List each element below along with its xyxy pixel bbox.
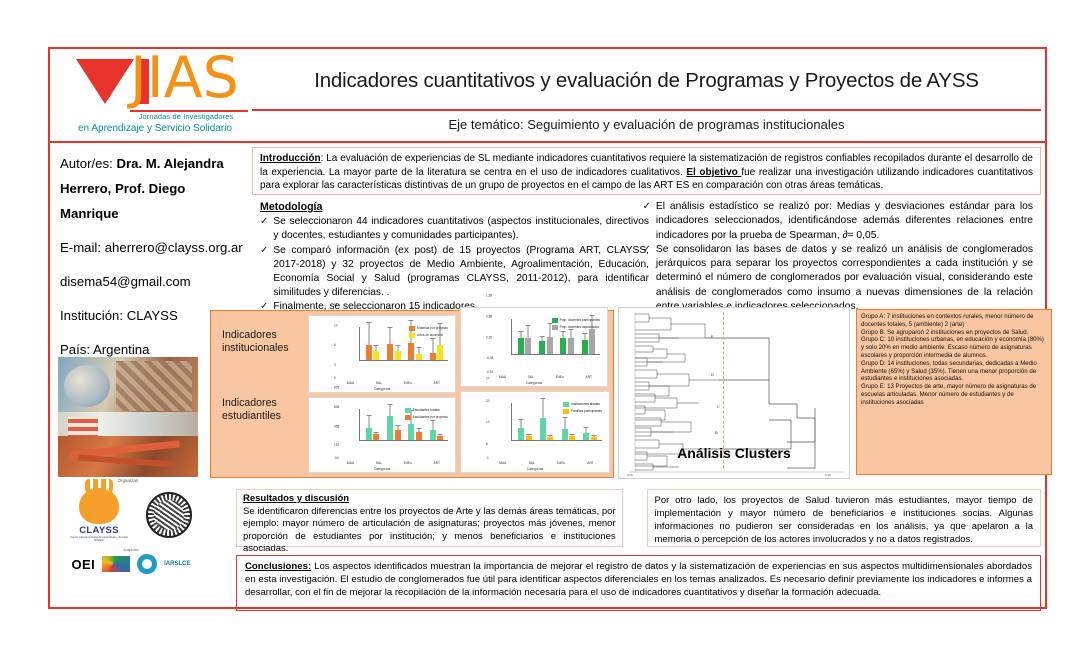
legend-item: Prop. docentes capacitados — [552, 325, 600, 330]
logo-v-shape — [76, 59, 134, 104]
chart-indicadores-comunidad[interactable]: -16132027Instituciones aliadasFamilias p… — [460, 391, 610, 473]
error-bar — [368, 322, 369, 345]
error-bar — [397, 425, 398, 430]
error-bar — [550, 435, 551, 437]
label-indicadores-estudiantiles: Indicadores estudiantiles — [222, 397, 302, 424]
error-bar — [528, 434, 529, 436]
university-seal-icon — [146, 492, 192, 538]
x-axis-tick: ART — [587, 461, 594, 465]
x-axis-tick: ART — [434, 381, 441, 385]
x-axis-labels: MAASALEdEcART — [336, 461, 451, 465]
header-divider — [50, 141, 1045, 143]
chart-bar — [525, 338, 531, 354]
x-axis-tick: ART — [586, 375, 593, 379]
svg-text:B: B — [715, 430, 718, 435]
chart-plot-area: -16132027Instituciones aliadasFamilias p… — [487, 398, 605, 456]
legend-item: Estudiantes por proyecto — [405, 415, 448, 420]
svg-text:D: D — [711, 372, 714, 377]
error-bar — [440, 434, 441, 436]
bar-group — [387, 328, 401, 360]
sponsor-section-label-organizan: Organizan — [58, 478, 198, 483]
introduccion-box: Introducción: La evaluación de experienc… — [252, 147, 1041, 195]
chart-bar — [589, 329, 595, 354]
label-indicadores-institucionales: Indicadores institucionales — [222, 329, 296, 356]
x-axis-tick: EdEc — [404, 461, 412, 465]
legend-item: Prop. docentes participantes — [552, 318, 600, 323]
svg-text:E: E — [711, 334, 714, 339]
legend-label: Prop. docentes capacitados — [560, 326, 599, 330]
chart-bar — [518, 428, 524, 440]
sponsor-logos: CLAYSS Centro Latinoamericano de Aprendi… — [56, 486, 206, 574]
y-axis-tick: 12 — [334, 303, 338, 342]
x-axis-title: Categorías — [309, 387, 455, 391]
error-bar — [542, 398, 543, 418]
bar-group — [518, 404, 532, 440]
chart-bar — [430, 430, 436, 440]
legend-swatch — [552, 325, 558, 330]
metodologia-bullet: ✓Se seleccionaron 44 indicadores cuantit… — [260, 215, 649, 243]
error-bar — [564, 417, 565, 429]
chart-plot-area: -0,51-0,080,390,881,39Prop. docentes par… — [487, 314, 603, 370]
grupo-line: Grupo C: 10 instituciones urbanas, en ed… — [861, 336, 1047, 359]
x-axis-tick: MAA — [347, 381, 354, 385]
chart-plot-area: -54187368608829Estudiantes totalesEstudi… — [335, 404, 451, 456]
chart-legend: Materias por proyectoAños de docencia — [409, 326, 448, 340]
logo-acronym: JIAS — [130, 48, 239, 108]
legend-swatch — [405, 415, 411, 420]
poster-subtitle-container: Eje temático: Seguimiento y evaluación d… — [252, 111, 1041, 137]
legend-swatch — [405, 408, 411, 413]
x-axis-labels: MAASALEdEcART — [488, 461, 605, 465]
uniservitate-icon — [137, 554, 157, 574]
legend-label: Años de docencia — [417, 334, 442, 338]
error-bar — [593, 435, 594, 437]
chart-bar — [526, 436, 532, 440]
x-axis — [359, 360, 448, 361]
error-bar — [528, 325, 529, 338]
x-axis-title: Categorías — [461, 381, 607, 385]
error-bar — [418, 347, 419, 354]
error-bar — [584, 333, 585, 340]
chart-indicadores-institucionales[interactable]: 0361012Materias por proyectoAños de doce… — [308, 315, 456, 393]
metodologia-bullet: ✓Se comparó información (ex post) de 15 … — [260, 244, 649, 301]
y-axis — [511, 319, 512, 355]
conclusiones-heading: Conclusiones: — [245, 561, 311, 572]
metodologia-bullet-text: Se seleccionaron 44 indicadores cuantita… — [273, 215, 649, 243]
x-axis-tick: SAL — [529, 461, 535, 465]
error-bar — [542, 336, 543, 341]
email-line-1: E-mail: aherrero@clayss.org.ar — [60, 235, 246, 260]
x-axis-labels: MAASALEdEcART — [488, 375, 603, 379]
email-value-1[interactable]: aherrero@clayss.org.ar — [105, 240, 243, 255]
chart-legend: Estudiantes totalesEstudiantes por proye… — [405, 408, 448, 422]
chart-bar — [560, 338, 566, 354]
introduccion-heading: Introducción — [260, 153, 321, 164]
x-axis-labels: MAASALEdEcART — [336, 381, 451, 385]
estadistica-box: ✓El análisis estadístico se realizó por:… — [640, 197, 1041, 306]
author-label: Autor/es: — [60, 156, 116, 171]
metodologia-heading: Metodología — [260, 200, 649, 214]
email-line-2: disema54@gmail.com — [60, 269, 246, 294]
bar-group — [366, 328, 380, 360]
logo-subtitle-1: Jornadas de Investigadores — [122, 112, 250, 121]
x-axis-title: Categorías — [309, 467, 455, 471]
chart-plot-area: 0361012Materias por proyectoAños de doce… — [335, 322, 451, 376]
legend-item: Estudiantes totales — [405, 408, 448, 413]
chart-bar — [540, 418, 546, 440]
y-axis — [359, 327, 360, 361]
email-label: E-mail: — [60, 240, 105, 255]
sponsor-section-label-auspician: Auspician — [56, 548, 206, 552]
x-axis — [511, 354, 600, 355]
legend-swatch — [563, 409, 569, 414]
metodologia-bullet-text: Se comparó información (ex post) de 15 p… — [273, 244, 649, 301]
error-bar — [572, 434, 573, 436]
chart-bar — [437, 436, 443, 440]
chart-bar — [547, 437, 553, 440]
estadistica-bullet-text: Se consolidaron las bases de datos y se … — [656, 243, 1033, 314]
x-axis-tick: EdEc — [556, 375, 564, 379]
iberoamerica-flag-icon — [102, 556, 130, 572]
y-axis-tick: 27 — [486, 377, 490, 420]
legend-label: Materias por proyecto — [417, 327, 448, 331]
chart-bar — [366, 428, 372, 440]
conclusiones-box: Conclusiones: Los aspectos identificados… — [236, 555, 1041, 611]
error-bar — [376, 432, 377, 435]
conclusiones-text: Los aspectos identificados muestran la i… — [245, 561, 1032, 598]
chart-bar — [395, 351, 401, 360]
x-axis — [359, 440, 448, 441]
legend-item: Años de docencia — [409, 333, 448, 338]
chart-bar — [582, 340, 588, 354]
resultados-heading: Resultados y discusión — [243, 493, 616, 506]
estadistica-bullet-text: El análisis estadístico se realizó por: … — [656, 200, 1033, 243]
chart-bar — [583, 433, 589, 440]
x-axis-tick: SAL — [528, 375, 534, 379]
chart-bar — [591, 437, 597, 440]
chart-bar — [416, 354, 422, 360]
legend-item: Materias por proyecto — [409, 326, 448, 331]
project-photo — [58, 357, 198, 477]
error-bar — [520, 331, 521, 339]
main-content: Introducción: La evaluación de experienc… — [252, 145, 1041, 603]
chart-bar — [395, 430, 401, 440]
email-value-2[interactable]: disema54@gmail.com — [60, 274, 191, 289]
check-icon: ✓ — [260, 215, 268, 229]
hand-icon — [79, 488, 119, 524]
logo-subtitle-2: en Aprendizaje y Servicio Solidario — [60, 123, 250, 134]
chart-legend: Instituciones aliadasFamilias participan… — [563, 402, 602, 416]
error-bar — [397, 345, 398, 351]
resultados-text-left: Se identificaron diferencias entre los p… — [243, 506, 616, 556]
chart-bar — [373, 434, 379, 440]
poster-title: Indicadores cuantitativos y evaluación d… — [314, 69, 979, 93]
x-axis-tick: EdEc — [557, 461, 565, 465]
check-icon: ✓ — [260, 244, 268, 258]
chart-bar — [387, 344, 393, 360]
chart-bar — [569, 436, 575, 440]
bar-group — [539, 320, 553, 354]
error-bar — [549, 323, 550, 337]
error-bar — [368, 415, 369, 427]
grupo-line: Grupo D: 14 instituciones, todas secunda… — [861, 360, 1047, 383]
x-axis-tick: SAL — [376, 461, 382, 465]
resultados-box-right: Por otro lado, los proyectos de Salud tu… — [647, 489, 1042, 547]
clayss-wordmark: CLAYSS — [70, 525, 128, 536]
grupo-line: Grupo B: Se agruparon 2 instituciones en… — [861, 329, 1047, 337]
x-axis-tick: MAA — [499, 375, 506, 379]
chart-bar — [408, 343, 414, 360]
svg-text:0,39: 0,39 — [825, 473, 831, 477]
legend-label: Familias participantes — [571, 410, 602, 414]
legend-item: Familias participantes — [563, 409, 602, 414]
poster-header: JIAS Jornadas de Investigadores en Apren… — [50, 49, 1045, 141]
legend-swatch — [409, 326, 415, 331]
svg-text:0,00: 0,00 — [627, 473, 633, 477]
error-bar — [521, 419, 522, 429]
chart-bar — [562, 429, 568, 440]
y-axis-tick: 829 — [334, 386, 339, 423]
grupos-summary-box: Grupo A: 7 instituciones en contextos ru… — [856, 309, 1052, 475]
chart-bar — [547, 337, 553, 354]
bar-group — [518, 320, 532, 354]
resultados-box-left: Resultados y discusión Se identificaron … — [236, 489, 623, 547]
dendrogram-caption: Análisis Clusters — [618, 445, 850, 461]
error-bar — [376, 345, 377, 352]
chart-bar — [366, 345, 372, 360]
legend-label: Estudiantes totales — [413, 409, 440, 413]
legend-label: Estudiantes por proyecto — [413, 416, 448, 420]
x-axis-tick: MAA — [347, 461, 354, 465]
legend-item: Instituciones aliadas — [563, 402, 602, 407]
metodologia-box: Metodología ✓Se seleccionaron 44 indicad… — [252, 197, 655, 306]
x-axis-tick: MAA — [499, 461, 506, 465]
chart-bar — [416, 432, 422, 440]
grupo-line: Grupo E: 13 Proyectos de arte, mayor núm… — [861, 383, 1047, 406]
error-bar — [432, 338, 433, 353]
bar-group — [366, 410, 380, 440]
iarslce-logo: IARSLCE — [164, 561, 190, 567]
legend-swatch — [409, 333, 415, 338]
chart-legend: Prop. docentes participantesProp. docent… — [552, 318, 600, 332]
x-axis — [511, 440, 602, 441]
poster-canvas: JIAS Jornadas de Investigadores en Apren… — [48, 47, 1047, 609]
bar-group — [387, 410, 401, 440]
error-bar — [418, 428, 419, 432]
x-axis-title: Categorías — [461, 467, 609, 471]
svg-text:C: C — [717, 404, 720, 409]
chart-bar — [408, 424, 414, 440]
y-axis-tick: 1,39 — [486, 294, 492, 335]
x-axis-tick: EdEc — [404, 381, 412, 385]
y-axis — [511, 403, 512, 441]
legend-swatch — [563, 402, 569, 407]
error-bar — [390, 404, 391, 415]
author-line: Autor/es: Dra. M. Alejandra Herrero, Pro… — [60, 151, 246, 226]
y-axis — [359, 409, 360, 441]
error-bar — [390, 327, 391, 344]
chart-bar — [539, 341, 545, 354]
chart-bar — [518, 338, 524, 354]
check-icon: ✓ — [642, 243, 650, 257]
chart-bar — [387, 416, 393, 440]
chart-bar — [568, 338, 574, 354]
chart-bar — [430, 353, 436, 360]
poster-subtitle: Eje temático: Seguimiento y evaluación d… — [449, 117, 845, 132]
chart-indicadores-estudiantiles[interactable]: -54187368608829Estudiantes totalesEstudi… — [308, 397, 456, 473]
check-icon: ✓ — [642, 200, 650, 214]
chart-indicadores-docentes[interactable]: -0,51-0,080,390,881,39Prop. docentes par… — [460, 307, 608, 387]
jias-logo: JIAS Jornadas de Investigadores en Apren… — [58, 53, 250, 141]
resultados-text-right: Por otro lado, los proyectos de Salud tu… — [655, 495, 1034, 547]
x-axis-tick: SAL — [376, 381, 382, 385]
poster-title-container: Indicadores cuantitativos y evaluación d… — [252, 53, 1041, 111]
legend-label: Instituciones aliadas — [571, 403, 600, 407]
error-bar — [586, 427, 587, 433]
chart-bar — [437, 345, 443, 360]
grupo-line: Grupo A: 7 instituciones en contextos ru… — [861, 313, 1047, 329]
oei-logo: OEI — [72, 557, 96, 572]
legend-label: Prop. docentes participantes — [560, 319, 600, 323]
clayss-logo: CLAYSS Centro Latinoamericano de Aprendi… — [70, 488, 128, 542]
bar-group — [540, 404, 554, 440]
objetivo-heading: El objetivo — [686, 167, 741, 178]
legend-swatch — [552, 318, 558, 323]
estadistica-bullet: ✓Se consolidaron las bases de datos y se… — [642, 243, 1033, 314]
graphics-band: Indicadores institucionales Indicadores … — [210, 305, 1041, 483]
x-axis-tick: ART — [434, 461, 441, 465]
chart-bar — [373, 351, 379, 360]
estadistica-bullet: ✓El análisis estadístico se realizó por:… — [642, 200, 1033, 243]
